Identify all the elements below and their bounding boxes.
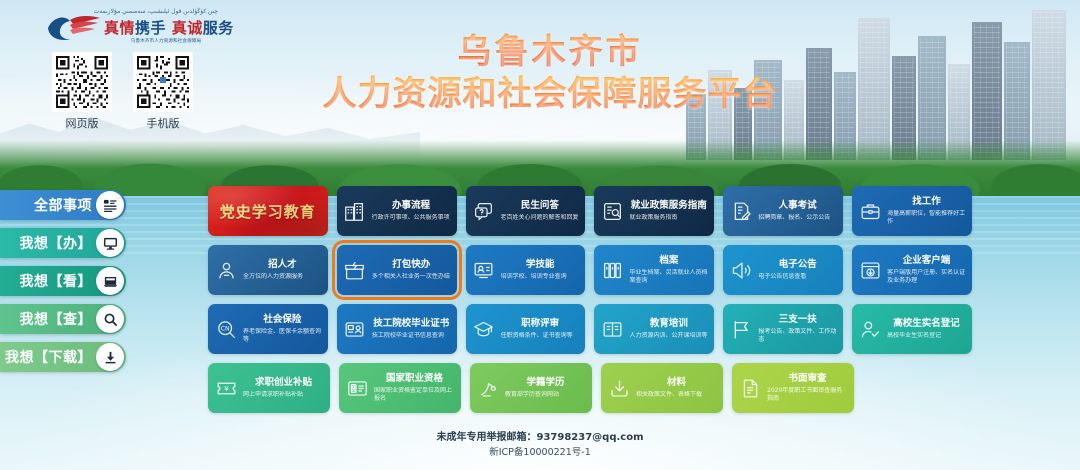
tile-text: 电子公告 电子公告信息查看 (758, 259, 837, 281)
person-talent-icon (215, 259, 237, 281)
sidebar-item-download[interactable]: 我想【下载】 (0, 342, 126, 372)
sidebar-item-label: 我想【查】 (20, 309, 93, 329)
list-icon (96, 191, 124, 219)
tile-school-record-education[interactable]: 学籍学历 教育部学历查询网站 (470, 363, 592, 413)
tile-title: 找工作 (887, 196, 966, 208)
tile-job-startup-subsidy[interactable]: ¥ 求职创业补贴 网上申请求职补贴补贴 (208, 363, 330, 413)
tile-row-2: 招人才 全方位的人力资源服务 打包快办 多个相关人社业务一次性办结 学技 (208, 245, 972, 295)
qr-web-caption: 网页版 (52, 115, 112, 131)
tile-text: 就业政策服务指南 就业政策服务指南 (629, 200, 708, 222)
banner-decor (208, 186, 328, 236)
tile-national-vocational-qualification[interactable]: 国家职业资格 国家职业资格鉴定单位及网上报名 (339, 363, 461, 413)
tile-desc: 养老保险金、医保卡余额查询等 (243, 328, 322, 344)
logo-slogan-part2: 携手 (135, 19, 166, 37)
tile-find-job[interactable]: 找工作 海量高薪职位，智能推荐好工作 (852, 186, 972, 236)
exam-pen-icon (730, 200, 752, 222)
search-icon (96, 305, 124, 333)
tile-title: 国家职业资格 (374, 373, 455, 385)
tile-desc: 高校毕业生实名登记 (887, 332, 966, 340)
tile-desc: 人力资源内训、公开课培训等 (629, 332, 708, 340)
tile-title: 求职创业补贴 (243, 377, 324, 389)
tile-desc: 相关政策文件、表格下载 (636, 391, 717, 399)
qr-mobile-caption: 手机版 (133, 115, 193, 131)
icp-license[interactable]: 新ICP备10000221号-1 (0, 445, 1080, 460)
tile-desc: 任职资格条件、证书查询等 (501, 332, 580, 340)
tile-text: 办事流程 行政许可事项、公共服务事项 (372, 200, 451, 222)
download-icon (96, 343, 124, 371)
graduation-cap-icon (473, 318, 495, 340)
tile-title: 就业政策服务指南 (629, 200, 708, 212)
client-download-icon (859, 259, 881, 281)
tile-learn-skills[interactable]: 学技能 培训学校、培训专业查询 (466, 245, 586, 295)
sidebar-item-view[interactable]: 我想【看】 (0, 266, 126, 296)
briefcase-icon (859, 200, 881, 222)
tile-title: 材料 (636, 377, 717, 389)
qr-mobile-version[interactable]: 手机版 (133, 52, 193, 131)
tile-desc: 网上申请求职补贴补贴 (243, 391, 324, 399)
document-search-icon (601, 200, 623, 222)
sidebar-item-search[interactable]: 我想【查】 (0, 304, 126, 334)
ticket-icon: ¥ (215, 377, 237, 399)
site-logo[interactable]: چىن كۆڭۈلدىن قول ئېلىشىپ، سەمىمىي مۇلازى… (46, 8, 216, 50)
tile-college-student-registration[interactable]: 高校生实名登记 高校毕业生实名登记 (852, 304, 972, 354)
tile-title: 招人才 (243, 259, 322, 271)
tile-employment-policy-guide[interactable]: 就业政策服务指南 就业政策服务指南 (594, 186, 714, 236)
tile-desc: 培训学校、培训专业查询 (501, 273, 580, 281)
svg-text:CN: CN (220, 325, 229, 332)
tile-text: 企业客户端 客户端版用户注册、实名认证及业务办理 (887, 255, 966, 285)
tile-title: 人事考试 (758, 200, 837, 212)
tile-package-fast-service[interactable]: 打包快办 多个相关人社业务一次性办结 (337, 245, 457, 295)
tile-social-insurance[interactable]: CN 社会保险 养老保险金、医保卡余额查询等 (208, 304, 328, 354)
page-footer: 未成年专用举报邮箱：93798237@qq.com 新ICP备10000221号… (0, 430, 1080, 460)
monitor-icon (96, 229, 124, 257)
tile-education-training[interactable]: 教育培训 人力资源内训、公开课培训等 (594, 304, 714, 354)
tile-desc: 国家职业资格鉴定单位及网上报名 (374, 387, 455, 403)
skill-board-icon (473, 259, 495, 281)
tile-title: 档案 (629, 255, 708, 267)
tile-party-history-education[interactable]: 党史学习教育 (208, 186, 328, 236)
sidebar-item-label: 我想【看】 (20, 271, 93, 291)
service-tile-grid: 党史学习教育 办事流程 行政许可事项、公共服务事项 民生问答 老百姓关心问题的解… (208, 186, 972, 422)
tile-recruit-talent[interactable]: 招人才 全方位的人力资源服务 (208, 245, 328, 295)
logo-slogan-part1: 真情 (104, 19, 135, 37)
tile-title: 高校生实名登记 (887, 318, 966, 330)
tile-desc: 客户端版用户注册、实名认证及业务办理 (887, 269, 966, 285)
tile-enterprise-client[interactable]: 企业客户端 客户端版用户注册、实名认证及业务办理 (852, 245, 972, 295)
tile-text: 职称评审 任职资格条件、证书查询等 (501, 318, 580, 340)
tile-livelihood-qa[interactable]: 民生问答 老百姓关心问题的解答和回复 (466, 186, 586, 236)
tile-text: 高校生实名登记 高校毕业生实名登记 (887, 318, 966, 340)
sidebar-item-label: 我想【办】 (20, 233, 93, 253)
mobile-version-qr-icon (133, 52, 193, 112)
tile-desc: 教育部学历查询网站 (505, 391, 586, 399)
tile-title: 职称评审 (501, 318, 580, 330)
tile-written-review[interactable]: 书面审查 2020年度职工书面审查服务指南 (732, 363, 854, 413)
tile-row-4: ¥ 求职创业补贴 网上申请求职补贴补贴 国家职业资格 国家职业资格鉴定单位及网上… (208, 363, 972, 413)
tile-process-guide[interactable]: 办事流程 行政许可事项、公共服务事项 (337, 186, 457, 236)
tile-archives[interactable]: 档案 毕业生档案、灵活就业人员档案查询 (594, 245, 714, 295)
tile-desc: 就业政策服务指南 (629, 214, 708, 222)
tile-electronic-announcement[interactable]: 电子公告 电子公告信息查看 (723, 245, 843, 295)
tile-text: 教育培训 人力资源内训、公开课培训等 (629, 318, 708, 340)
page-title-line2: 人力资源和社会保障服务平台 (290, 72, 810, 116)
tile-title: 办事流程 (372, 200, 451, 212)
qr-web-version[interactable]: 网页版 (52, 52, 112, 131)
tile-text: 求职创业补贴 网上申请求职补贴补贴 (243, 377, 324, 399)
tile-title: 民生问答 (501, 200, 580, 212)
tile-personnel-exam[interactable]: 人事考试 招聘简章、报名、公示公告 (723, 186, 843, 236)
page-header: چىن كۆڭۈلدىن قول ئېلىشىپ، سەمىمىي مۇلازى… (0, 0, 1080, 140)
tile-text: 民生问答 老百姓关心问题的解答和回复 (501, 200, 580, 222)
tile-desc: 电子公告信息查看 (758, 273, 837, 281)
tile-technical-school-certificate[interactable]: 技工院校毕业证书 技工院校毕业证书信息查询 (337, 304, 457, 354)
scholar-icon (477, 377, 499, 399)
report-email: 未成年专用举报邮箱：93798237@qq.com (0, 430, 1080, 445)
logo-slogan-part3: 真诚 (172, 19, 203, 37)
tile-desc: 技工院校毕业证书信息查询 (372, 332, 451, 340)
tile-text: 人事考试 招聘简章、报名、公示公告 (758, 200, 837, 222)
package-fast-icon (344, 259, 366, 281)
sidebar-item-label: 我想【下载】 (5, 347, 92, 367)
tile-text: 三支一扶 报考公告、政策文件、工作动态 (758, 314, 837, 344)
sidebar-item-all-matters[interactable]: 全部事项 (0, 190, 126, 220)
tile-title: 教育培训 (629, 318, 708, 330)
download-box-icon (608, 377, 630, 399)
tile-title: 学技能 (501, 259, 580, 271)
tile-text: 档案 毕业生档案、灵活就业人员档案查询 (629, 255, 708, 285)
book-icon (96, 267, 124, 295)
tile-three-supports-one-assist[interactable]: 三支一扶 报考公告、政策文件、工作动态 (723, 304, 843, 354)
tile-title: 书面审查 (767, 373, 848, 385)
tile-title-review[interactable]: 职称评审 任职资格条件、证书查询等 (466, 304, 586, 354)
open-book-icon (601, 318, 623, 340)
tile-title: 打包快办 (372, 259, 451, 271)
certificate-icon (344, 318, 366, 340)
tile-title: 社会保险 (243, 314, 322, 326)
id-card-icon (346, 377, 368, 399)
tile-text: 社会保险 养老保险金、医保卡余额查询等 (243, 314, 322, 344)
bird-logo-icon (46, 12, 102, 42)
tile-title: 电子公告 (758, 259, 837, 271)
tile-desc: 行政许可事项、公共服务事项 (372, 214, 451, 222)
tile-title: 三支一扶 (758, 314, 837, 326)
tile-text: 书面审查 2020年度职工书面审查服务指南 (767, 373, 848, 403)
building-icon (344, 200, 366, 222)
sidebar-item-label: 全部事项 (34, 195, 92, 215)
tile-text: 学籍学历 教育部学历查询网站 (505, 377, 586, 399)
web-version-qr-icon (52, 52, 112, 112)
sidebar-nav: 全部事项 我想【办】 我想【看】 我想【查】 我想【下载】 (0, 190, 130, 380)
review-doc-icon (739, 377, 761, 399)
logo-org-name: 乌鲁木齐市人力资源和社会保障局 (106, 38, 226, 44)
tile-desc: 多个相关人社业务一次性办结 (372, 273, 451, 281)
svg-text:¥: ¥ (224, 383, 229, 392)
tile-text: 找工作 海量高薪职位，智能推荐好工作 (887, 196, 966, 226)
tile-materials[interactable]: 材料 相关政策文件、表格下载 (601, 363, 723, 413)
tile-title: 企业客户端 (887, 255, 966, 267)
logo-uyghur-text: چىن كۆڭۈلدىن قول ئېلىشىپ، سەمىمىي مۇلازى… (106, 8, 218, 15)
tile-title: 技工院校毕业证书 (372, 318, 451, 330)
speaker-icon (730, 259, 752, 281)
tile-desc: 毕业生档案、灵活就业人员档案查询 (629, 269, 708, 285)
page-root: چىن كۆڭۈلدىن قول ئېلىشىپ، سەمىمىي مۇلازى… (0, 0, 1080, 470)
tile-text: 打包快办 多个相关人社业务一次性办结 (372, 259, 451, 281)
tile-text: 学技能 培训学校、培训专业查询 (501, 259, 580, 281)
page-title: 乌鲁木齐市 人力资源和社会保障服务平台 (290, 32, 810, 116)
tile-desc: 2020年度职工书面审查服务指南 (767, 387, 848, 403)
tile-desc: 海量高薪职位，智能推荐好工作 (887, 210, 966, 226)
tile-row-1: 党史学习教育 办事流程 行政许可事项、公共服务事项 民生问答 老百姓关心问题的解… (208, 186, 972, 236)
person-check-icon (859, 318, 881, 340)
tile-row-3: CN 社会保险 养老保险金、医保卡余额查询等 技工院校毕业证书 技工院校毕业证书… (208, 304, 972, 354)
tile-text: 国家职业资格 国家职业资格鉴定单位及网上报名 (374, 373, 455, 403)
tile-desc: 全方位的人力资源服务 (243, 273, 322, 281)
tile-text: 技工院校毕业证书 技工院校毕业证书信息查询 (372, 318, 451, 340)
logo-slogan: 真情携手 真诚服务 (104, 17, 234, 38)
tile-text: 材料 相关政策文件、表格下载 (636, 377, 717, 399)
tile-desc: 报考公告、政策文件、工作动态 (758, 328, 837, 344)
tile-text: 招人才 全方位的人力资源服务 (243, 259, 322, 281)
tile-desc: 招聘简章、报名、公示公告 (758, 214, 837, 222)
chat-question-icon (473, 200, 495, 222)
insurance-search-icon: CN (215, 318, 237, 340)
flag-icon (730, 318, 752, 340)
page-title-line1: 乌鲁木齐市 (290, 32, 810, 72)
tile-desc: 老百姓关心问题的解答和回复 (501, 214, 580, 222)
sidebar-item-handle[interactable]: 我想【办】 (0, 228, 126, 258)
archive-icon (601, 259, 623, 281)
logo-slogan-part4: 服务 (203, 19, 234, 37)
tile-title: 学籍学历 (505, 377, 586, 389)
